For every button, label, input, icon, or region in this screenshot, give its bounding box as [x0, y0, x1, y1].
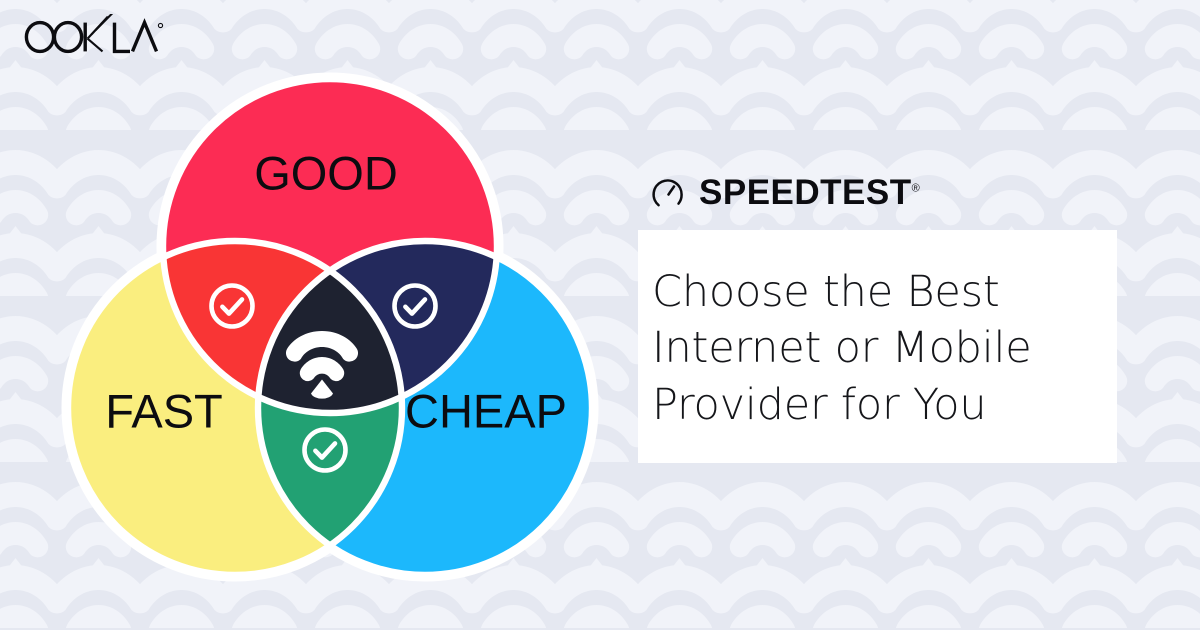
venn-label-fast: FAST	[105, 384, 223, 437]
ookla-wordmark-icon	[14, 14, 164, 60]
venn-diagram: GOOD FAST CHEAP	[48, 58, 612, 582]
venn-label-cheap: CHEAP	[405, 384, 567, 437]
speedtest-wordmark: SPEEDTEST®	[699, 175, 920, 210]
right-content-column: SPEEDTEST® Choose the Best Internet or M…	[638, 170, 1118, 463]
headline-card: Choose the Best Internet or Mobile Provi…	[638, 230, 1117, 463]
speedtest-wordmark-text: SPEEDTEST	[699, 173, 912, 212]
promo-banner: GOOD FAST CHEAP SPEEDTEST® Choo	[0, 0, 1200, 630]
speedtest-logo: SPEEDTEST®	[638, 170, 1118, 214]
speedometer-gauge-icon	[651, 175, 686, 210]
trademark-symbol: ®	[912, 182, 920, 194]
venn-label-good: GOOD	[254, 146, 398, 199]
page-title: Choose the Best Internet or Mobile Provi…	[652, 264, 1087, 433]
